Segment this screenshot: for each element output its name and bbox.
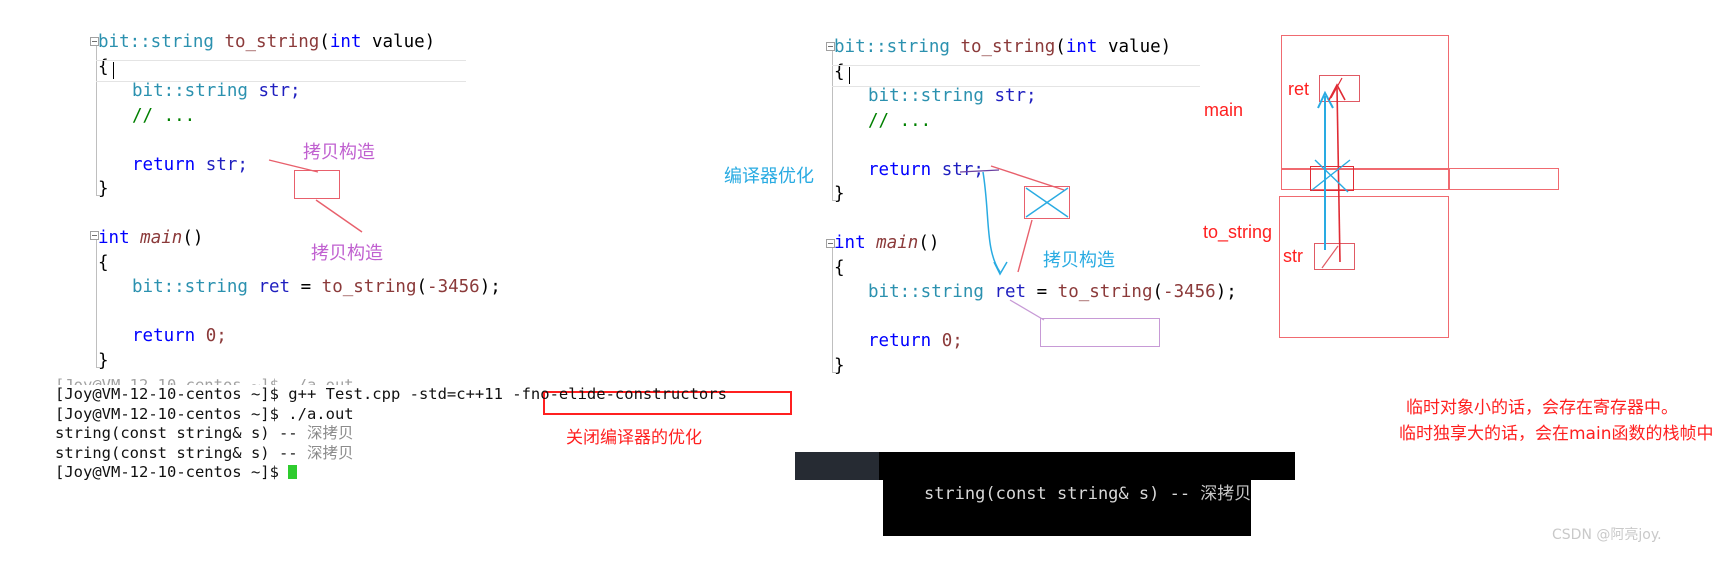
code-line: return str; xyxy=(868,158,984,183)
terminal-output-cn: 深拷贝 xyxy=(307,424,354,442)
code-token: return xyxy=(132,326,195,346)
code-token: // ... xyxy=(868,111,931,131)
code-token: // ... xyxy=(132,106,195,126)
terminal-line: string(const string& s) -- 深拷贝 xyxy=(55,444,815,464)
code-token: to_string xyxy=(322,277,417,297)
stack-slot-ret-box xyxy=(1319,75,1360,102)
code-token: int xyxy=(98,228,130,248)
code-line: int main() xyxy=(98,226,203,251)
code-token: -3456 xyxy=(1163,282,1216,302)
temp-object-box-left-1 xyxy=(294,170,340,199)
terminal-bar-text-code: string(const string& s) -- xyxy=(924,484,1200,504)
code-token: bit::string xyxy=(132,81,258,101)
terminal-compiler-flag: -fno-elide-constructors xyxy=(512,385,727,403)
terminal-command: string(const string& s) -- xyxy=(55,424,307,442)
code-token: = xyxy=(1026,282,1058,302)
current-line-rule-top xyxy=(96,60,466,61)
text-caret-left xyxy=(113,62,114,79)
code-line: { xyxy=(834,60,845,85)
code-token: -3456 xyxy=(427,277,480,297)
code-token: ret xyxy=(994,282,1026,302)
annotation-copy-ctor-left-1: 拷贝构造 xyxy=(303,138,375,164)
code-token: bit::string xyxy=(868,86,994,106)
terminal-cursor xyxy=(288,465,297,479)
code-token: ( xyxy=(1152,282,1163,302)
right-terminal-output: string(const string& s) -- 深拷贝 xyxy=(795,452,1295,480)
stack-temp-band-box xyxy=(1281,168,1449,190)
code-token: value) xyxy=(1097,37,1171,57)
code-token: 0; xyxy=(206,326,227,346)
stack-note-line-2: 临时独享大的话，会在main函数的栈帧中 xyxy=(1399,419,1713,444)
code-fold-bar-right-1 xyxy=(832,49,833,201)
code-token: { xyxy=(834,258,845,278)
code-token: str; xyxy=(258,81,300,101)
terminal-command: g++ Test.cpp -std=c++11 xyxy=(288,385,512,403)
temp-object-box-right-2 xyxy=(1040,318,1160,347)
code-line: bit::string str; xyxy=(132,79,301,104)
code-token: bit::string xyxy=(834,37,960,57)
code-token: int xyxy=(834,233,866,253)
terminal-prompt: [Joy@VM-12-10-centos ~]$ xyxy=(55,405,288,423)
code-token: { xyxy=(98,253,109,273)
terminal-bar-text: string(const string& s) -- 深拷贝 xyxy=(883,452,1251,536)
terminal-clipped-line: [Joy@VM-12-10-centos ~]$ ./a.out xyxy=(55,376,815,385)
stack-temp-extension-box xyxy=(1449,168,1559,190)
terminal-line: [Joy@VM-12-10-centos ~]$ xyxy=(55,463,815,483)
code-token xyxy=(195,326,206,346)
code-line: } xyxy=(98,177,109,202)
stack-temp-slot-box xyxy=(1310,166,1354,191)
code-token: main xyxy=(140,228,182,248)
code-line: bit::string to_string(int value) xyxy=(834,35,1171,60)
code-token: ret xyxy=(258,277,290,297)
terminal-command: ./a.out xyxy=(288,405,353,423)
code-line: { xyxy=(98,251,109,276)
code-token: return xyxy=(868,160,931,180)
terminal-line: [Joy@VM-12-10-centos ~]$ g++ Test.cpp -s… xyxy=(55,385,815,405)
code-line: } xyxy=(98,349,109,374)
code-token xyxy=(866,233,877,253)
code-token: str; xyxy=(994,86,1036,106)
code-token xyxy=(130,228,141,248)
terminal-line: string(const string& s) -- 深拷贝 xyxy=(55,424,815,444)
code-fold-bar-right-2 xyxy=(832,245,833,373)
code-line: return 0; xyxy=(868,329,963,354)
stack-note-line-1: 临时对象小的话，会存在寄存器中。 xyxy=(1406,393,1678,418)
stack-label-main: main xyxy=(1204,100,1243,121)
code-token xyxy=(931,160,942,180)
annotation-copy-ctor-right: 拷贝构造 xyxy=(1043,246,1115,272)
current-line-rule-bottom-right xyxy=(832,86,1200,87)
code-line: bit::string to_string(int value) xyxy=(98,30,435,55)
current-line-rule-top-right xyxy=(832,65,1200,66)
collapse-icon-left-1[interactable] xyxy=(90,37,99,46)
code-line: return 0; xyxy=(132,324,227,349)
stack-frame-to-string-box xyxy=(1279,196,1449,338)
code-token: } xyxy=(834,184,845,204)
code-token: = xyxy=(290,277,322,297)
code-token: bit::string xyxy=(868,282,994,302)
annotation-copy-ctor-left-2: 拷贝构造 xyxy=(311,239,383,265)
code-token: main xyxy=(876,233,918,253)
code-line: // ... xyxy=(868,109,931,134)
code-line: bit::string ret = to_string(-3456); xyxy=(132,275,501,300)
code-token: return xyxy=(132,155,195,175)
code-line: { xyxy=(834,256,845,281)
code-token: return xyxy=(868,331,931,351)
stack-slot-str-box xyxy=(1314,243,1355,270)
code-line: } xyxy=(834,182,845,207)
code-token: bit::string xyxy=(132,277,258,297)
code-fold-bar-left-1 xyxy=(96,44,97,196)
terminal-command: string(const string& s) -- xyxy=(55,444,307,462)
temp-object-box-right-1 xyxy=(1024,186,1070,219)
terminal-line: [Joy@VM-12-10-centos ~]$ ./a.out xyxy=(55,405,815,425)
terminal-prompt: [Joy@VM-12-10-centos ~]$ xyxy=(55,463,288,481)
terminal-bar-left-segment xyxy=(795,452,879,480)
code-token xyxy=(931,331,942,351)
code-token: to_string xyxy=(224,32,319,52)
code-line: { xyxy=(98,55,109,80)
code-token: str; xyxy=(206,155,248,175)
text-caret-right xyxy=(849,67,850,84)
code-token: value) xyxy=(361,32,435,52)
code-line: return str; xyxy=(132,153,248,178)
code-token: ( xyxy=(319,32,330,52)
csdn-watermark: CSDN @阿亮joy. xyxy=(1552,524,1662,544)
code-token: () xyxy=(182,228,203,248)
terminal-prompt: [Joy@VM-12-10-centos ~]$ xyxy=(55,385,288,403)
stack-label-to-string: to_string xyxy=(1203,222,1272,243)
code-line: } xyxy=(834,354,845,379)
code-line: bit::string str; xyxy=(868,84,1037,109)
code-token: to_string xyxy=(1058,282,1153,302)
code-token: ); xyxy=(480,277,501,297)
terminal-bar-text-cn: 深拷贝 xyxy=(1200,484,1251,504)
code-token xyxy=(195,155,206,175)
code-line: int main() xyxy=(834,231,939,256)
collapse-icon-left-2[interactable] xyxy=(90,231,99,240)
code-token: } xyxy=(98,179,109,199)
code-line: // ... xyxy=(132,104,195,129)
current-line-rule-bottom xyxy=(96,81,466,82)
code-token: ); xyxy=(1216,282,1237,302)
code-token: 0; xyxy=(942,331,963,351)
code-token: ( xyxy=(416,277,427,297)
annotation-compiler-optimization: 编译器优化 xyxy=(724,162,814,188)
left-terminal[interactable]: [Joy@VM-12-10-centos ~]$ ./a.out[Joy@VM-… xyxy=(55,376,815,483)
terminal-output-cn: 深拷贝 xyxy=(307,444,354,462)
collapse-icon-right-1[interactable] xyxy=(826,42,835,51)
code-token: int xyxy=(1066,37,1098,57)
code-token: to_string xyxy=(960,37,1055,57)
code-token: ( xyxy=(1055,37,1066,57)
code-token: int xyxy=(330,32,362,52)
code-line: bit::string ret = to_string(-3456); xyxy=(868,280,1237,305)
code-fold-bar-left-2 xyxy=(96,240,97,368)
code-token: () xyxy=(918,233,939,253)
code-token: str; xyxy=(942,160,984,180)
collapse-icon-right-2[interactable] xyxy=(826,239,835,248)
code-token: bit::string xyxy=(98,32,224,52)
stack-frame-main-box xyxy=(1281,35,1449,170)
